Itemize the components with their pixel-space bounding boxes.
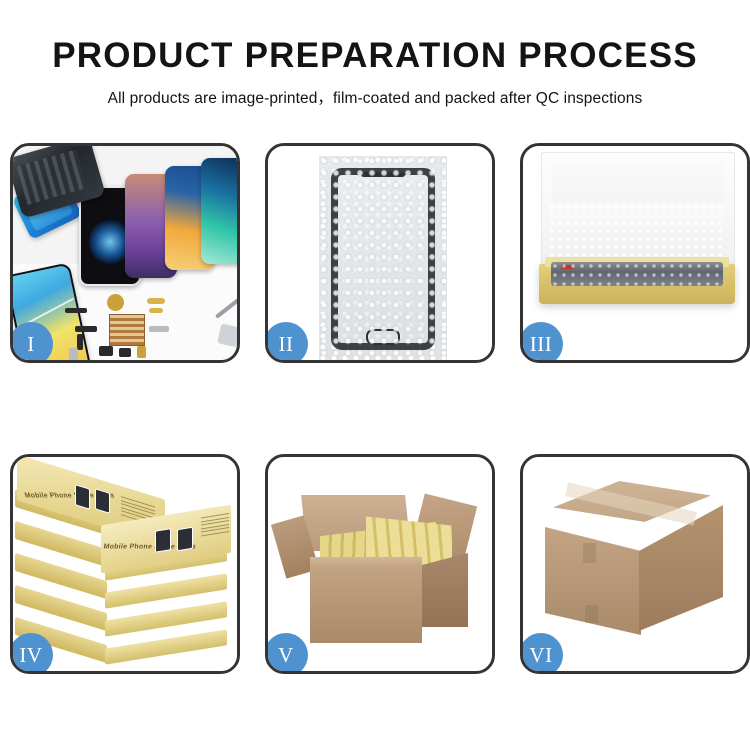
step-panel-2: II xyxy=(265,143,495,363)
vibrator-motor-icon xyxy=(119,348,131,357)
phone-thumbnail-icon xyxy=(75,484,90,510)
connector-strip-icon xyxy=(65,308,87,313)
page-subtitle: All products are image-printed，film-coat… xyxy=(0,86,750,108)
carton-right-face xyxy=(639,505,723,631)
step-panel-5: V xyxy=(265,454,495,674)
kraft-inner-box-tray-icon xyxy=(539,264,735,304)
ribbon-cable-tail-icon xyxy=(77,334,83,350)
teal-gradient-screen-icon xyxy=(201,158,237,264)
spare-parts-cluster xyxy=(65,292,195,360)
carton-seam xyxy=(583,543,596,563)
step-badge-2: II xyxy=(265,322,308,363)
header: PRODUCT PREPARATION PROCESS All products… xyxy=(0,0,750,108)
copper-contact-pad-icon xyxy=(109,314,145,346)
carton-seam xyxy=(585,605,598,623)
page-title: PRODUCT PREPARATION PROCESS xyxy=(0,38,750,73)
sim-tray-icon xyxy=(137,346,146,358)
box-edge xyxy=(105,629,227,664)
red-label-icon xyxy=(561,265,573,269)
wrapped-lcd-icon xyxy=(551,262,723,286)
bubble-texture-overlay xyxy=(319,156,447,360)
metal-bracket-icon xyxy=(149,326,169,332)
carton-front-lip xyxy=(310,557,422,569)
step-badge-4: IV xyxy=(10,633,53,674)
flex-cable-small-icon xyxy=(149,308,163,313)
step-panel-1: I xyxy=(10,143,240,363)
ribbon-cable-icon xyxy=(75,326,97,332)
phone-thumbnail-icon xyxy=(155,528,171,553)
step-panel-3: III xyxy=(520,143,750,363)
bubble-film-sheet xyxy=(319,156,447,360)
camera-module-icon xyxy=(99,346,113,356)
spec-list xyxy=(201,513,229,538)
step-panel-4: Mobile Phone Spare Parts Mobile Phone Sp… xyxy=(10,454,240,674)
product-preparation-infographic: PRODUCT PREPARATION PROCESS All products… xyxy=(0,0,750,750)
speaker-coil-icon xyxy=(107,294,124,311)
step-badge-3: III xyxy=(520,322,563,363)
phone-thumbnail-icon xyxy=(95,488,110,514)
phone-thumbnail-icon xyxy=(177,527,193,552)
button-key-icon xyxy=(69,348,78,360)
step-badge-5: V xyxy=(265,633,308,674)
step-panel-6: VI xyxy=(520,454,750,674)
step-badge-1: I xyxy=(10,322,53,363)
process-steps-grid: I II III xyxy=(10,143,740,674)
carton-right-face xyxy=(422,553,468,627)
carton-front-face xyxy=(310,565,422,643)
step-badge-6: VI xyxy=(520,633,563,674)
flex-cable-icon xyxy=(147,298,165,304)
